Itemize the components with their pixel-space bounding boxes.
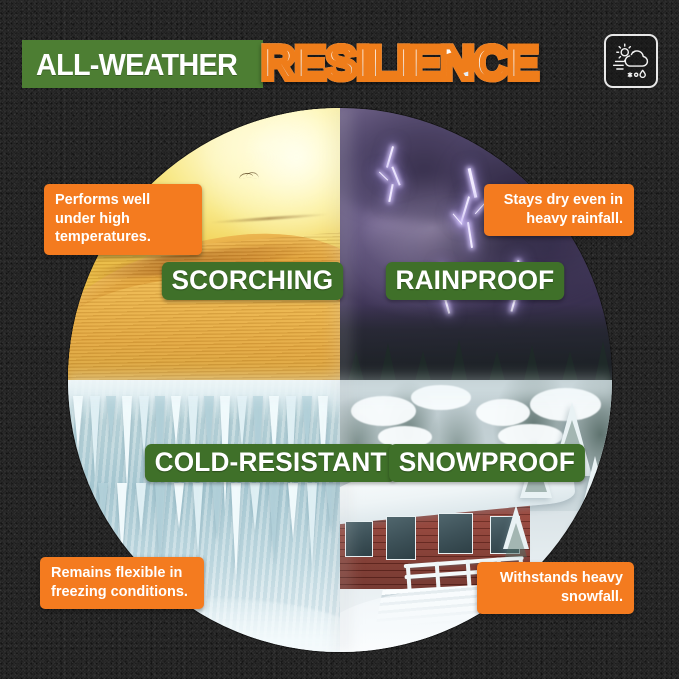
all-weather-banner: ALL-WEATHER: [22, 40, 263, 88]
cabin-window-3: [438, 513, 473, 554]
infographic-canvas: ALL-WEATHER RESILIENCE: [0, 0, 679, 679]
header-bar: ALL-WEATHER RESILIENCE: [22, 30, 658, 96]
quadrant-title-rainproof: RAINPROOF: [386, 262, 564, 300]
cabin-window-2: [386, 516, 416, 560]
quadrant-scene-cold-resistant: [68, 380, 340, 652]
quadrant-scene-rainproof: [340, 108, 612, 380]
weather-mixed-icon: [604, 34, 658, 88]
callout-scorching: Performs well under high temperatures.: [44, 184, 202, 255]
header-title-part2: RESILIENCE: [261, 36, 538, 89]
header-title-part1: ALL-WEATHER: [36, 49, 237, 80]
resilience-title-wrap: RESILIENCE: [261, 39, 538, 86]
callout-snowproof: Withstands heavy snowfall.: [477, 562, 634, 614]
storm-forest-silhouette: [340, 304, 612, 380]
quadrant-title-scorching: SCORCHING: [162, 262, 343, 300]
cabin-window-1: [345, 521, 372, 556]
quadrant-title-snowproof: SNOWPROOF: [389, 444, 585, 482]
quadrant-title-cold-resistant: COLD-RESISTANT: [145, 444, 397, 482]
callout-rainproof: Stays dry even in heavy rainfall.: [484, 184, 634, 236]
callout-cold-resistant: Remains flexible in freezing conditions.: [40, 557, 204, 609]
